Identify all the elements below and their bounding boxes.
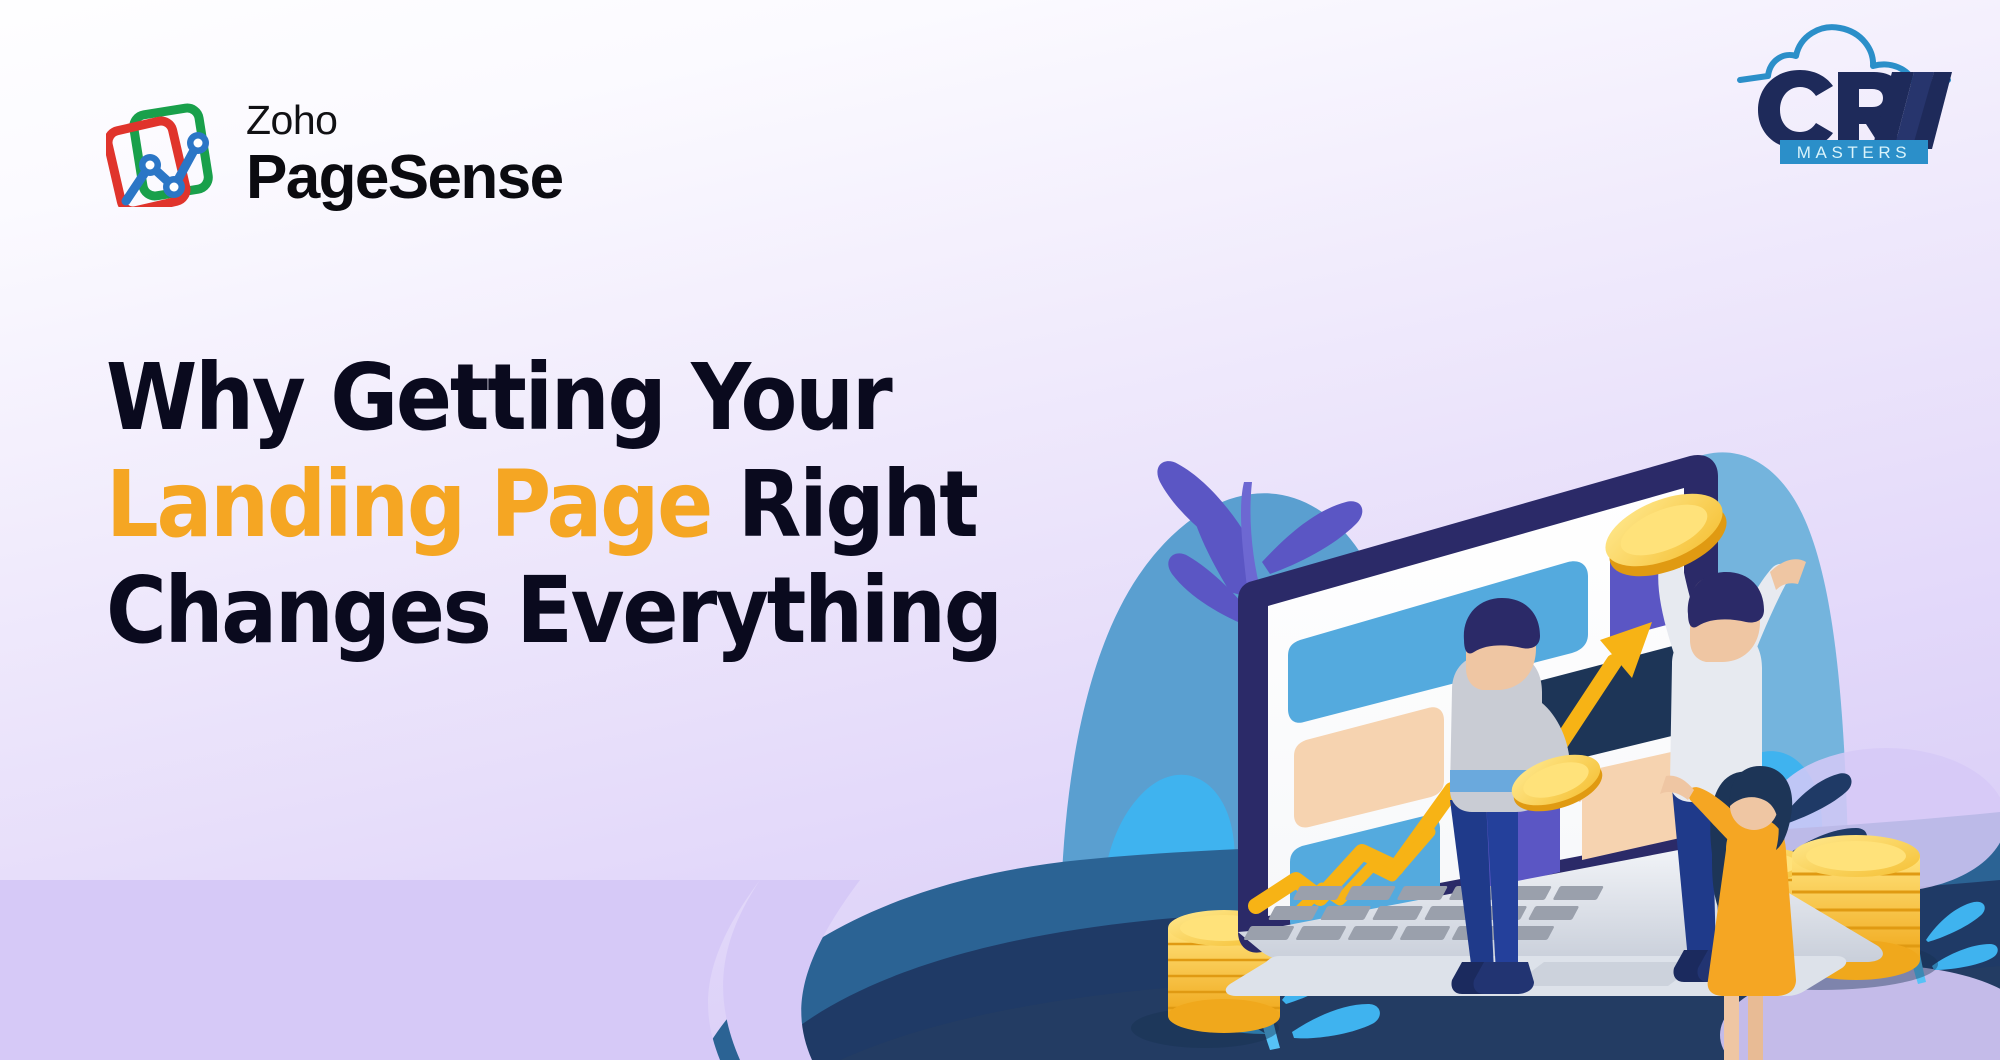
banner-root: Zoho PageSense MASTERS Why Getting Your … — [0, 0, 2000, 1060]
headline-line-2: Landing Page Right — [106, 452, 1001, 559]
crm-masters-secondary-text: MASTERS — [1797, 143, 1911, 162]
coin-held-left — [1505, 745, 1608, 821]
pagesense-cards-chart-icon — [106, 103, 224, 207]
headline-line-3: Changes Everything — [106, 558, 1001, 665]
person-woman-yellow-dress — [1660, 766, 1796, 1060]
laptop-device — [1226, 455, 1883, 996]
leaf-navy-icon — [1679, 767, 1867, 878]
leaf-cyan-icon — [1170, 947, 1380, 1050]
background-blobs — [1060, 452, 2000, 1060]
zoho-wordmark-line1: Zoho — [246, 100, 562, 141]
laptop-keyboard — [1243, 886, 1604, 940]
growth-arrow-head — [1600, 622, 1652, 678]
coin-stack-right — [1702, 835, 1938, 990]
headline-line-1: Why Getting Your — [106, 345, 1001, 452]
crm-masters-logo[interactable]: MASTERS — [1734, 18, 1954, 168]
coin-stack-left — [1131, 910, 1280, 1048]
growth-arrow-chart — [1256, 662, 1614, 906]
dashboard-cards — [1288, 532, 1680, 933]
leaf-purple-icon — [1157, 461, 1375, 672]
zoho-wordmark-line2: PageSense — [246, 147, 562, 209]
person-right-lifting-coin — [1653, 526, 1806, 982]
laptop-trackpad — [1512, 962, 1700, 986]
coin-held-right — [1595, 479, 1736, 591]
page-title: Why Getting Your Landing Page Right Chan… — [106, 345, 1001, 665]
ground-plane — [0, 748, 2000, 1060]
person-left-holding-coin — [1450, 598, 1594, 994]
headline-highlight: Landing Page — [106, 451, 711, 558]
leaf-cyan-right-icon — [1843, 902, 1998, 984]
zoho-pagesense-wordmark: Zoho PageSense — [246, 100, 562, 209]
mini-chart-line — [1298, 832, 1430, 912]
headline-line-2-rest: Right — [711, 451, 976, 558]
zoho-pagesense-logo[interactable]: Zoho PageSense — [106, 100, 562, 209]
